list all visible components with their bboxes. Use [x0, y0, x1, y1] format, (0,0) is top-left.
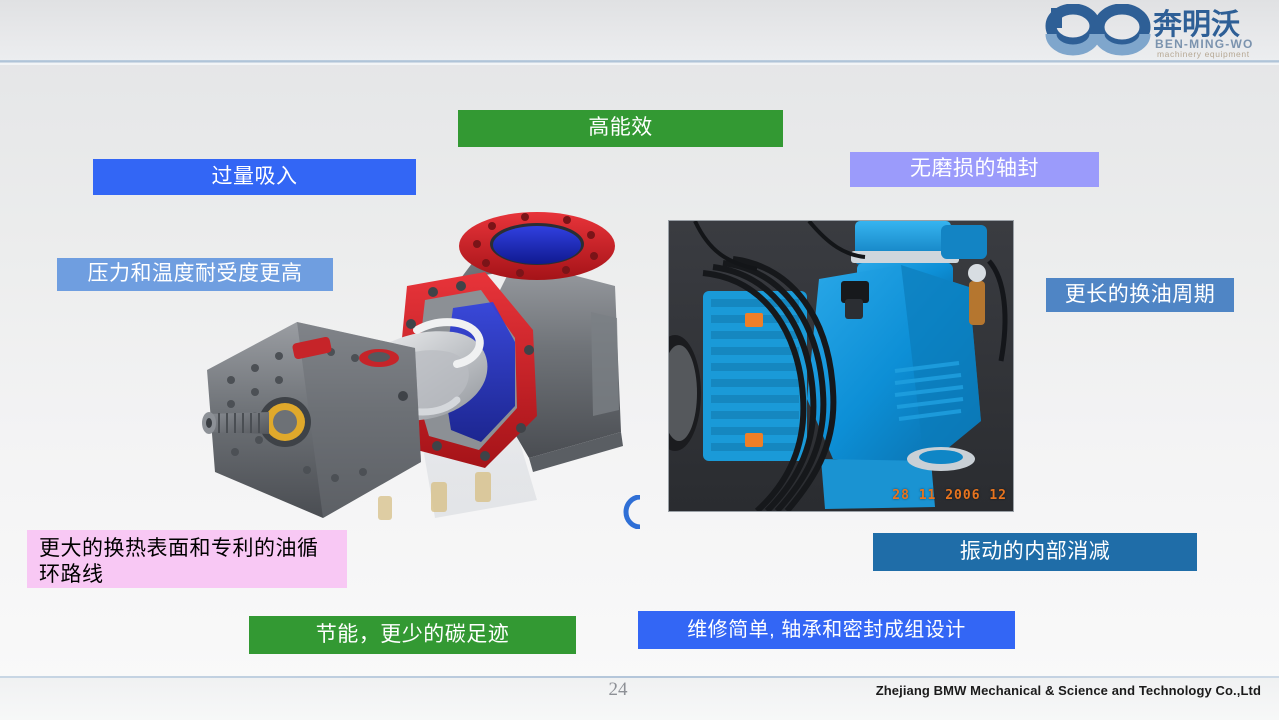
- slide: 奔明沃 BEN-MING-WO machinery equipment: [0, 0, 1279, 720]
- callout-easy-maintenance: 维修简单, 轴承和密封成组设计: [638, 611, 1015, 649]
- cad-render-screw-compressor: [185, 200, 655, 550]
- logo-tagline: machinery equipment: [1157, 49, 1250, 59]
- company-name-footer: Zhejiang BMW Mechanical & Science and Te…: [876, 683, 1261, 698]
- cad-inlet-bore: [493, 226, 581, 264]
- stray-graphic-artifact: [620, 495, 646, 529]
- compressor-photo: 28 11 2006 12: [668, 220, 1014, 512]
- logo-chinese-name: 奔明沃: [1153, 7, 1240, 41]
- callout-energy-saving: 节能，更少的碳足迹: [249, 616, 576, 654]
- header-divider-highlight: [0, 63, 1279, 65]
- callout-pressure-temperature: 压力和温度耐受度更高: [57, 258, 333, 291]
- logo-bo-mark: [1051, 8, 1145, 50]
- callout-vibration-reduction: 振动的内部消减: [873, 533, 1197, 571]
- callout-oil-change-interval: 更长的换油周期: [1046, 278, 1234, 312]
- callout-overfeed: 过量吸入: [93, 159, 416, 195]
- callout-heat-exchange-surface: 更大的换热表面和专利的油循环路线: [27, 530, 347, 588]
- photo-timestamp: 28 11 2006 12: [892, 488, 1007, 503]
- callout-wearless-seal: 无磨损的轴封: [850, 152, 1099, 187]
- callout-high-efficiency: 高能效: [458, 110, 783, 147]
- page-number: 24: [598, 679, 638, 701]
- company-logo: 奔明沃 BEN-MING-WO machinery equipment: [1045, 4, 1271, 60]
